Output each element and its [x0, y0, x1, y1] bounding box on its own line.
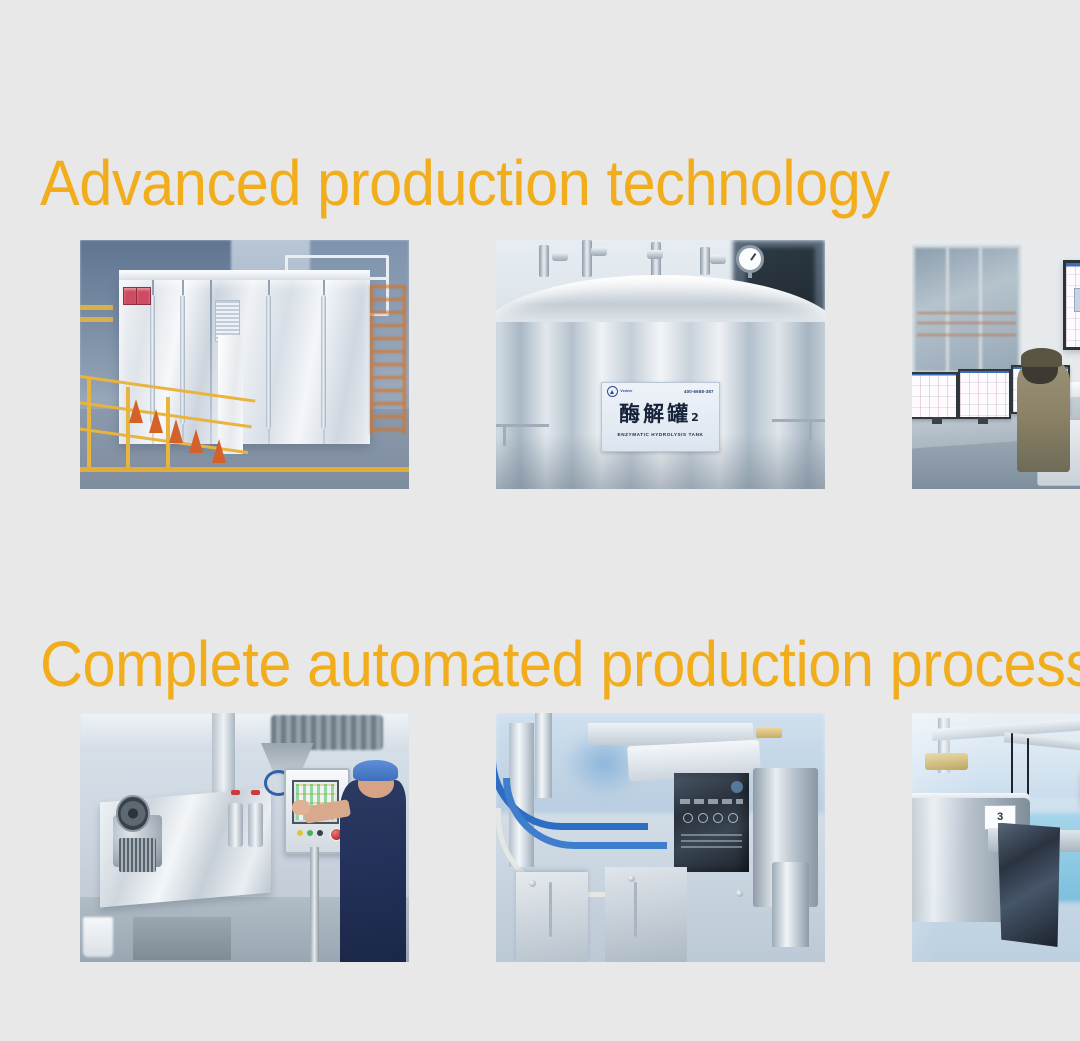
control-room-scene [912, 240, 1080, 489]
red-valve-handle[interactable] [251, 790, 260, 795]
photo-pouch-filling-machine[interactable]: Automated pouch filling and sealing mach… [496, 713, 825, 962]
pneumatic-cylinder [772, 862, 808, 947]
wall-display-left[interactable] [1063, 260, 1080, 350]
plant-pipe-through-window [917, 334, 1015, 336]
tank-nozzle [539, 245, 549, 277]
plant-pipe-through-window [917, 322, 1015, 324]
panel-indicator-button[interactable] [317, 830, 323, 836]
hydrolysis-tank-scene: Vedeer 400-6688-387 酶解罐2 ENZYMATIC HYDRO… [496, 240, 825, 489]
pouch-text-line [681, 846, 742, 848]
rotary-packaging-scene: 3 [912, 713, 1080, 962]
glass-reflection-overlay [912, 713, 1080, 962]
sign-phone-number: 400-6688-387 [684, 389, 714, 394]
railing-base-rail [80, 467, 409, 472]
tank-bracket-arm [503, 424, 506, 446]
tank-bracket-arm [809, 419, 812, 441]
observation-window [912, 245, 1021, 374]
sign-chinese-text: 酶解罐 [619, 402, 691, 426]
panel-support-pole [310, 847, 319, 962]
pouch-icon [698, 813, 708, 823]
pouch-icon-row [683, 813, 738, 823]
traffic-cone [169, 419, 183, 443]
sight-glass-tube [248, 803, 263, 848]
traffic-cone [189, 429, 203, 453]
access-ladder [370, 285, 406, 434]
guard-plate-slot [634, 882, 637, 937]
cabinet-door-handle[interactable] [321, 295, 326, 429]
white-bucket [83, 917, 113, 957]
tank-nozzle [700, 247, 710, 274]
red-valve-handle[interactable] [231, 790, 240, 795]
photo-industrial-drying-line[interactable]: Stainless steel drying and processing li… [80, 240, 409, 489]
drying-line-scene [80, 240, 409, 489]
machine-guard-plate [516, 872, 588, 962]
cabinet-door-handle[interactable] [266, 295, 271, 429]
section-heading-advanced-production-technology: Advanced production technology [40, 151, 890, 215]
pressure-gauge [736, 245, 764, 273]
tank-nozzle [651, 242, 661, 277]
photo-hydrolysis-tank[interactable]: Vedeer 400-6688-387 酶解罐2 ENZYMATIC HYDRO… [496, 240, 825, 489]
photo-hmi-operator-station[interactable]: Operator using HMI touchscreen control p… [80, 713, 409, 962]
window-mullion [979, 248, 982, 371]
page-root: Advanced production technology [0, 0, 1080, 1041]
plant-pipe-through-window [917, 312, 1015, 314]
sign-tank-number: 2 [691, 411, 702, 424]
photo-rotary-packaging-machine[interactable]: 3 Rotary pouch packaging machine, statio… [912, 713, 1080, 962]
cabinet-door-handle[interactable] [150, 295, 155, 424]
guard-plate-slot [549, 882, 552, 937]
printed-pouch [674, 773, 750, 873]
pouch-icon [728, 813, 738, 823]
operator-hand [292, 800, 310, 815]
desk-monitor[interactable] [912, 372, 958, 419]
pouch-icon [683, 813, 693, 823]
collection-bin [133, 917, 232, 959]
operator-cap [1021, 348, 1062, 367]
gauge-needle [750, 253, 756, 260]
pouch-text-line [681, 834, 742, 836]
logo-mark-icon [607, 386, 618, 397]
motor-cooling-grid [119, 838, 155, 873]
photo-row-production-technology: Stainless steel drying and processing li… [40, 224, 1040, 473]
scada-block [1074, 288, 1080, 312]
monitor-stand [932, 417, 942, 424]
sign-chinese-title: 酶解罐2 [619, 404, 702, 425]
overhead-pipe [80, 317, 113, 322]
monitor-scada-view [912, 374, 956, 417]
machine-guard-plate [605, 867, 687, 962]
sight-glass-tube [228, 803, 243, 848]
panel-indicator-button[interactable] [307, 830, 313, 836]
machine-bolt [736, 890, 743, 897]
desk-monitor[interactable] [958, 369, 1011, 419]
company-logo: Vedeer [607, 386, 632, 397]
red-control-box [136, 287, 151, 305]
monitor-scada-view [960, 371, 1009, 417]
pouch-printed-text [680, 799, 744, 804]
photo-control-room[interactable]: Central control room with SCADA monitori… [912, 240, 1080, 489]
pouch-text-line [681, 840, 742, 842]
sign-english-title: ENZYMATIC HYDROLYSIS TANK [618, 432, 704, 437]
tank-identification-sign: Vedeer 400-6688-387 酶解罐2 ENZYMATIC HYDRO… [601, 382, 719, 452]
pouch-filling-scene [496, 713, 825, 962]
pouch-icon [713, 813, 723, 823]
logo-brand-text: Vedeer [620, 389, 632, 393]
window-mullion [946, 248, 949, 371]
traffic-cone [212, 439, 226, 463]
yellow-guard-block [756, 728, 782, 738]
sign-header-row: Vedeer 400-6688-387 [602, 386, 718, 397]
tank-nozzle [582, 240, 592, 277]
pouch-logo-badge [731, 781, 743, 793]
cabinet-seam [210, 280, 212, 444]
traffic-cone [129, 399, 143, 423]
monitor-stand [978, 417, 988, 424]
overhead-pipe [80, 305, 113, 310]
tank-valve[interactable] [552, 252, 568, 261]
machine-bolt [628, 875, 635, 882]
tank-bracket [772, 419, 825, 422]
tank-valve[interactable] [591, 247, 607, 256]
traffic-cone [149, 409, 163, 433]
hmi-operator-scene [80, 713, 409, 962]
tank-valve[interactable] [647, 250, 663, 259]
motor-fan-cover [116, 795, 150, 831]
tank-bracket [496, 424, 549, 427]
photo-row-automated-process: Operator using HMI touchscreen control p… [40, 697, 1040, 946]
blue-hairnet-cap [353, 760, 397, 781]
tank-valve[interactable] [710, 255, 726, 264]
cabinet-door-handle[interactable] [180, 295, 185, 424]
railing-post [87, 377, 91, 467]
section-heading-complete-automated-production-process: Complete automated production process [40, 632, 1080, 696]
